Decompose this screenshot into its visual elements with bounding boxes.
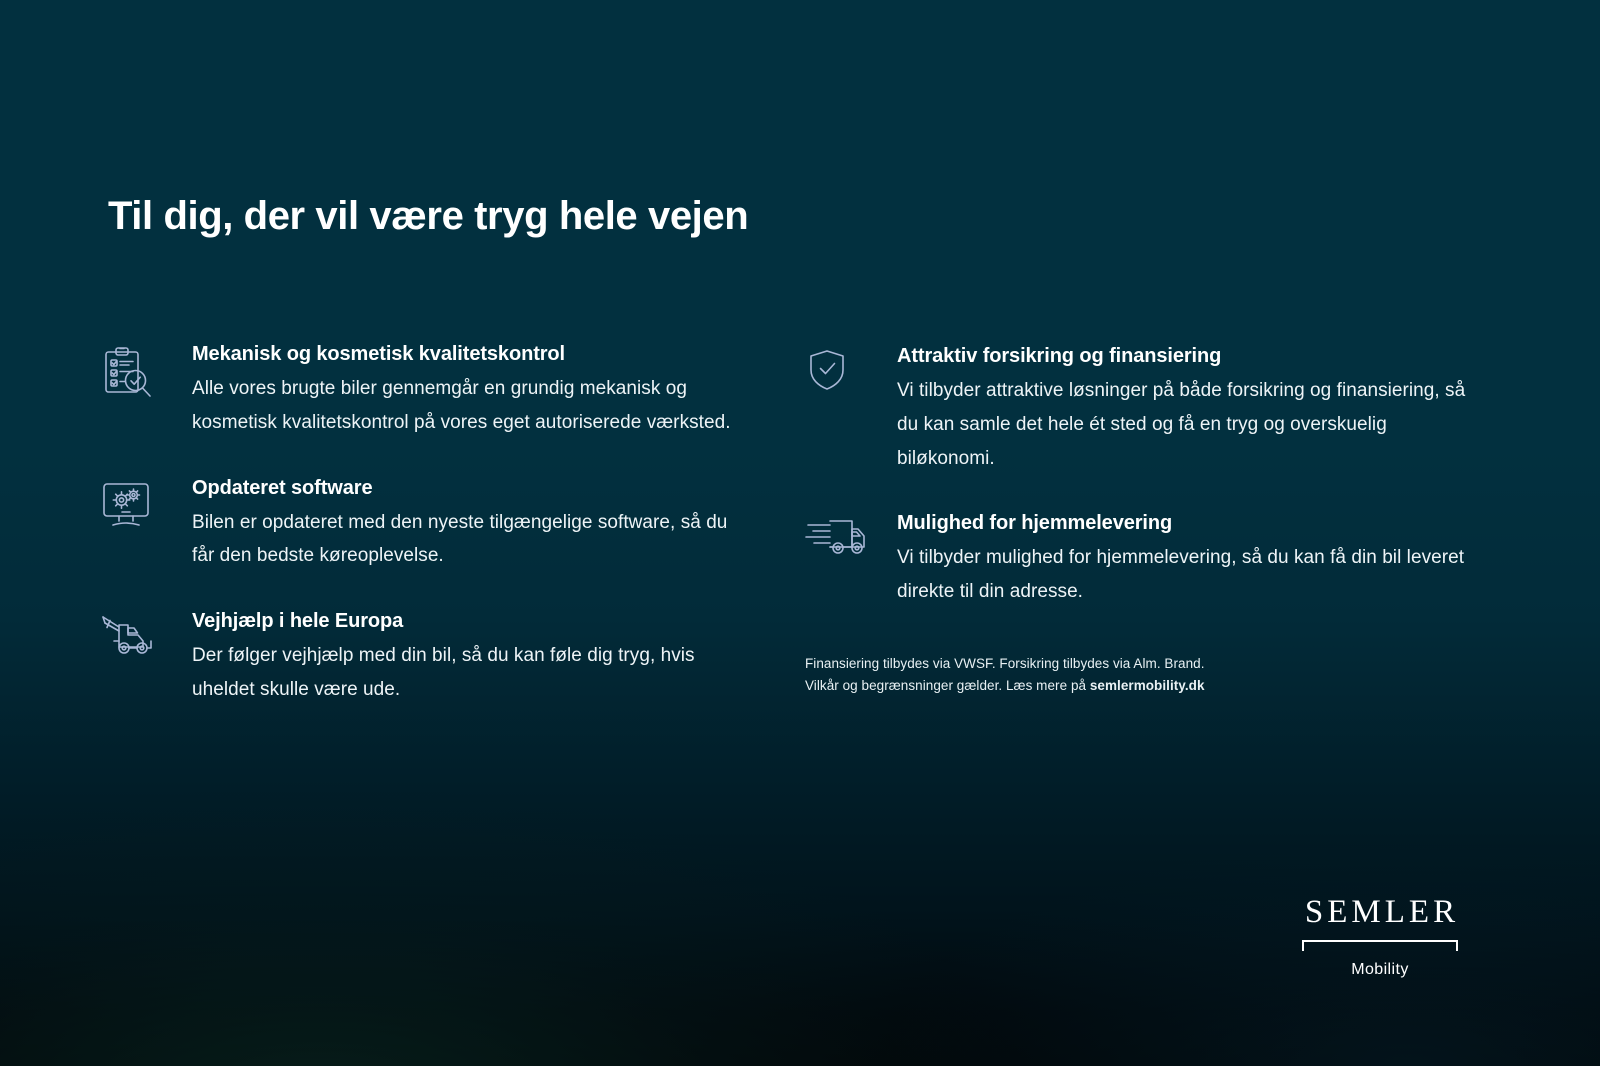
logo-wordmark: SEMLER (1300, 896, 1460, 929)
feature-item: Opdateret software Bilen er opdateret me… (100, 474, 750, 574)
logo-subtitle: Mobility (1300, 961, 1460, 979)
feature-item: Attraktiv forsikring og finansiering Vi … (805, 342, 1485, 475)
logo-rule-tick-right (1456, 940, 1458, 951)
monitor-gears-icon (100, 474, 192, 528)
feature-title: Vejhjælp i hele Europa (192, 609, 750, 634)
feature-item: Vejhjælp i hele Europa Der følger vejhjæ… (100, 607, 750, 707)
feature-description: Vi tilbyder attraktive løsninger på både… (897, 374, 1485, 475)
feature-title: Attraktiv forsikring og finansiering (897, 344, 1485, 369)
logo-rule-tick-left (1302, 940, 1304, 951)
logo-divider-rule (1300, 940, 1460, 952)
feature-title: Opdateret software (192, 476, 750, 501)
feature-text: Vejhjælp i hele Europa Der følger vejhjæ… (192, 607, 750, 707)
fineprint-disclaimer: Finansiering tilbydes via VWSF. Forsikri… (805, 653, 1485, 697)
feature-title: Mekanisk og kosmetisk kvalitetskontrol (192, 342, 750, 367)
feature-column-right: Attraktiv forsikring og finansiering Vi … (805, 340, 1485, 697)
poster-canvas: Til dig, der vil være tryg hele vejen (0, 0, 1600, 1066)
feature-item: Mekanisk og kosmetisk kvalitetskontrol A… (100, 340, 750, 440)
fineprint-line-1: Finansiering tilbydes via VWSF. Forsikri… (805, 653, 1485, 675)
delivery-truck-icon (805, 509, 897, 563)
feature-description: Vi tilbyder mulighed for hjemmelevering,… (897, 541, 1485, 609)
feature-title: Mulighed for hjemmelevering (897, 511, 1485, 536)
feature-column-left: Mekanisk og kosmetisk kvalitetskontrol A… (100, 340, 750, 707)
feature-text: Mekanisk og kosmetisk kvalitetskontrol A… (192, 340, 750, 440)
feature-description: Alle vores brugte biler gennemgår en gru… (192, 372, 750, 440)
feature-text: Opdateret software Bilen er opdateret me… (192, 474, 750, 574)
semlermobility-link[interactable]: semlermobility.dk (1090, 678, 1205, 693)
feature-text: Mulighed for hjemmelevering Vi tilbyder … (897, 509, 1485, 609)
semler-mobility-logo: SEMLER Mobility (1300, 896, 1460, 979)
feature-item: Mulighed for hjemmelevering Vi tilbyder … (805, 509, 1485, 609)
shield-check-icon (805, 342, 897, 396)
fineprint-line-2-prefix: Vilkår og begrænsninger gælder. Læs mere… (805, 678, 1090, 693)
tow-truck-icon (100, 607, 192, 661)
page-title: Til dig, der vil være tryg hele vejen (108, 192, 748, 240)
fineprint-line-2: Vilkår og begrænsninger gælder. Læs mere… (805, 675, 1485, 697)
feature-description: Bilen er opdateret med den nyeste tilgæn… (192, 506, 750, 574)
clipboard-check-magnifier-icon (100, 340, 192, 394)
feature-description: Der følger vejhjælp med din bil, så du k… (192, 639, 750, 707)
feature-text: Attraktiv forsikring og finansiering Vi … (897, 342, 1485, 475)
